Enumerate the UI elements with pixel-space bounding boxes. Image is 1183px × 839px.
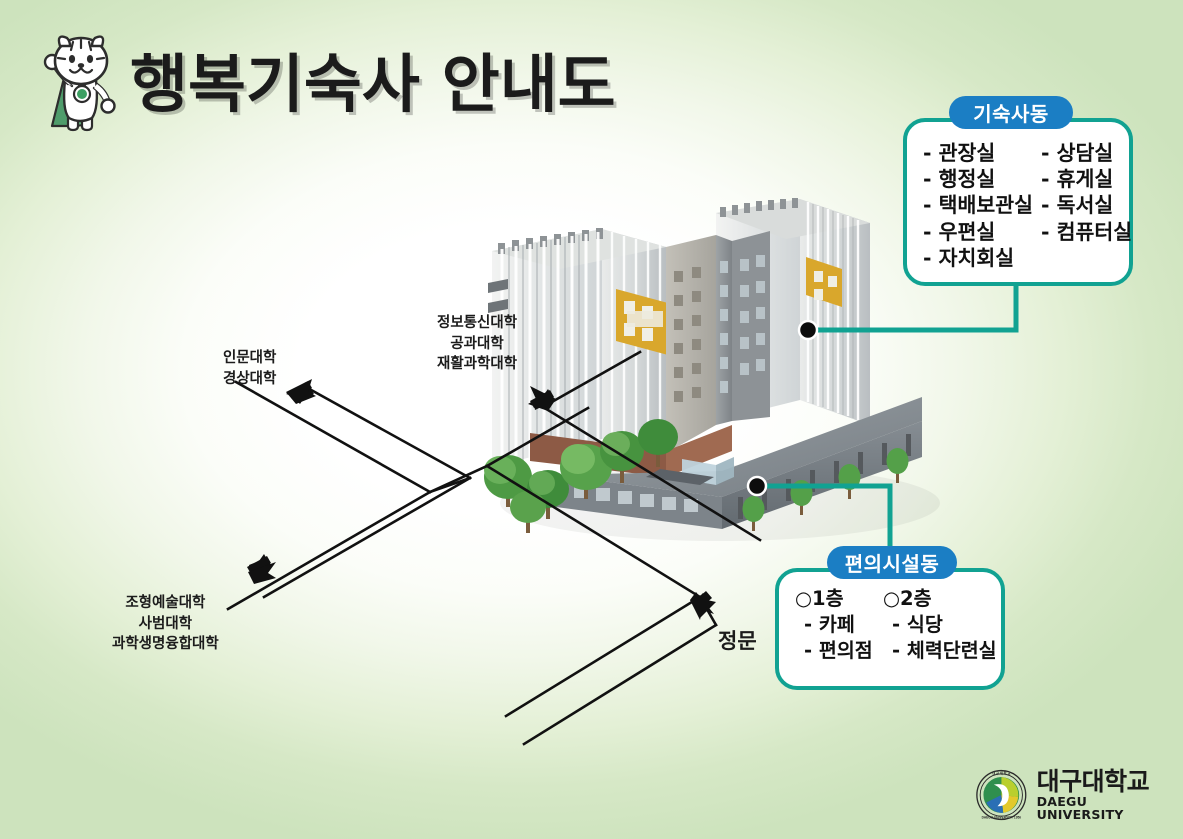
label-line: 과학생명융합대학 [112,634,219,655]
label-line: 인문대학 [223,348,276,369]
label-line: 정보통신대학 [437,313,517,334]
university-name-kr: 대구대학교 [1037,769,1170,794]
dormitory-building-illustration [470,185,950,555]
university-logo-text: 대구대학교 DAEGU UNIVERSITY [1037,769,1170,821]
dormitory-room-grid: - 관장실 - 상담실 - 행정실 - 휴게실 - 택배보관실 - 독서실 - … [923,140,1132,271]
arrow-gate [690,592,714,620]
daegu-university-emblem-icon: 대 구 대 학 교 DAEGU UNIVERSITY 1956 [975,767,1028,823]
svg-text:DAEGU UNIVERSITY 1956: DAEGU UNIVERSITY 1956 [982,815,1022,819]
dormitory-map-poster: 행복기숙사 안내도 [0,0,1183,839]
room-item: - 우편실 [923,219,1039,245]
svg-text:대 구 대 학 교: 대 구 대 학 교 [992,771,1010,776]
dormitory-facilities-box: - 관장실 - 상담실 - 행정실 - 휴게실 - 택배보관실 - 독서실 - … [903,118,1133,286]
label-line: 사범대학 [112,614,219,635]
convenience-box-title: 편의시설동 [827,546,957,579]
university-logo: 대 구 대 학 교 DAEGU UNIVERSITY 1956 대구대학교 DA… [975,766,1170,824]
room-item: - 컴퓨터실 [1041,219,1132,245]
room-item: - 자치회실 [923,245,1039,271]
room-item: - 상담실 [1041,140,1132,166]
label-arts-colleges: 조형예술대학 사범대학 과학생명융합대학 [112,593,219,655]
floor-2-heading: ○2층 [883,586,997,611]
university-name-en: DAEGU UNIVERSITY [1037,796,1170,821]
convenience-facilities-box: ○1층 - 카페 - 편의점 ○2층 - 식당 - 체력단련실 [775,568,1005,690]
floor-2-block: ○2층 - 식당 - 체력단련실 [883,586,997,663]
room-item: - 행정실 [923,166,1039,192]
room-item: - 휴게실 [1041,166,1132,192]
page-title: 행복기숙사 안내도 [130,34,616,125]
room-item: - 관장실 [923,140,1039,166]
label-humanities-colleges: 인문대학 경상대학 [223,348,276,389]
floor-1-heading: ○1층 [795,586,873,611]
room-item: - 택배보관실 [923,192,1039,218]
white-tiger-mascot-icon [24,26,128,138]
floor-1-item: - 카페 [795,612,873,637]
label-main-gate: 정문 [718,627,757,657]
label-line: 경상대학 [223,369,276,390]
floor-1-block: ○1층 - 카페 - 편의점 [795,586,873,663]
label-ict-colleges: 정보통신대학 공과대학 재활과학대학 [437,313,517,375]
room-item [1041,245,1132,271]
room-item: - 독서실 [1041,192,1132,218]
arrow-northwest [286,379,316,404]
arrow-southwest [248,562,276,584]
label-line: 조형예술대학 [112,593,219,614]
label-line: 재활과학대학 [437,354,517,375]
label-line: 공과대학 [437,334,517,355]
floor-1-item: - 편의점 [795,638,873,663]
floor-2-item: - 식당 [883,612,997,637]
floor-2-item: - 체력단련실 [883,638,997,663]
dormitory-box-title: 기숙사동 [949,96,1073,129]
